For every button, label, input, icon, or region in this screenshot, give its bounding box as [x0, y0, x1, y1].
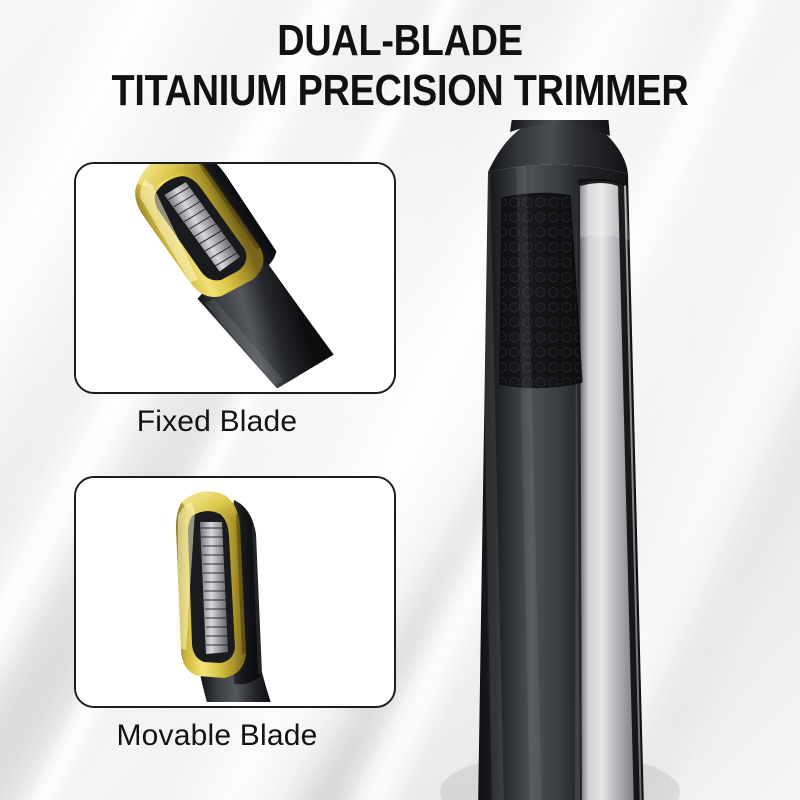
title-line-2: TITANIUM PRECISION TRIMMER	[56, 68, 744, 115]
title-line-1: DUAL-BLADE	[56, 18, 744, 65]
product-marketing-image: DUAL-BLADE TITANIUM PRECISION TRIMMER	[0, 0, 800, 800]
page-title: DUAL-BLADE TITANIUM PRECISION TRIMMER	[0, 18, 800, 114]
hero-product-image	[430, 120, 800, 800]
callout-card-fixed-blade	[74, 162, 396, 394]
callout-caption-movable-blade: Movable Blade	[0, 719, 450, 753]
callout-caption-fixed-blade: Fixed Blade	[0, 405, 450, 439]
callout-card-movable-blade	[74, 476, 396, 708]
